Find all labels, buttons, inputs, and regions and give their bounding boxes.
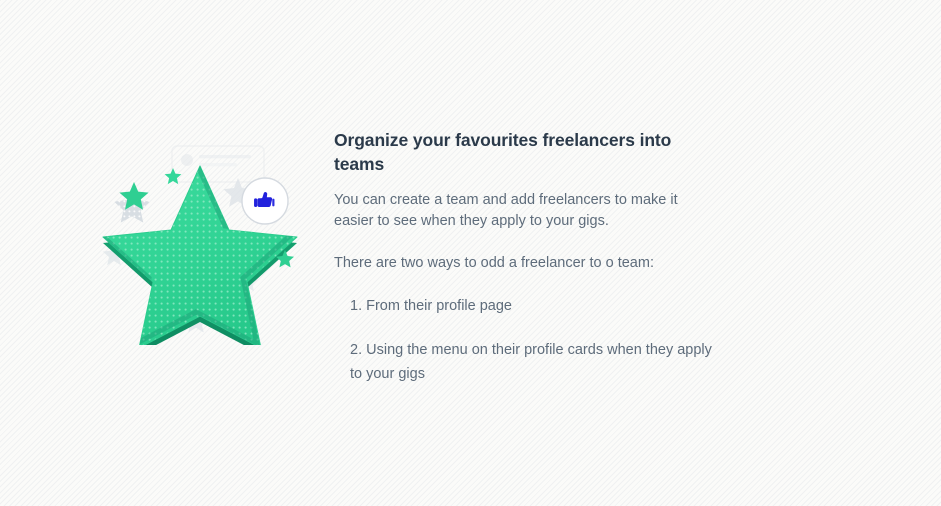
- list-item: 1. From their profile page: [334, 294, 718, 318]
- list-item: 2. Using the menu on their profile cards…: [334, 338, 718, 386]
- promo-ways-intro-text: There are two ways to odd a freelancer t…: [334, 253, 712, 274]
- promo-intro-text: You can create a team and add freelancer…: [334, 190, 712, 232]
- green-3d-star: [88, 140, 313, 345]
- favourites-teams-promo: Organize your favourites freelancers int…: [0, 0, 941, 506]
- favourite-star-illustration: [88, 140, 313, 345]
- thumbs-up-badge: [242, 178, 288, 224]
- promo-text-column: Organize your favourites freelancers int…: [334, 128, 714, 386]
- profile-card-ghost: [172, 146, 264, 182]
- page-title: Organize your favourites freelancers int…: [334, 128, 702, 176]
- promo-steps-list: 1. From their profile page 2. Using the …: [334, 294, 714, 386]
